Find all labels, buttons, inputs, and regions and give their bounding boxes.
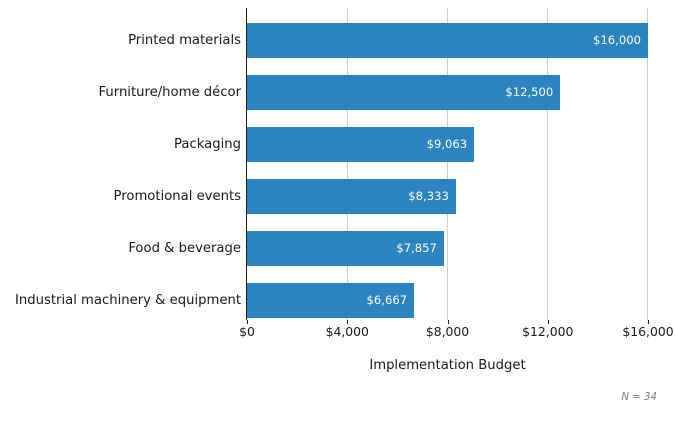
category-label: Industrial machinery & equipment <box>0 283 241 318</box>
bar-chart: Printed materials$16,000Furniture/home d… <box>0 0 675 422</box>
category-label: Furniture/home décor <box>0 75 241 110</box>
bar-value-label: $16,000 <box>593 23 641 58</box>
bar-row: Furniture/home décor$12,500 <box>0 75 675 110</box>
x-tick-label: $12,000 <box>522 324 573 339</box>
sample-size-note: N = 34 <box>621 392 657 403</box>
bar: $8,333 <box>247 179 456 214</box>
category-label: Food & beverage <box>0 231 241 266</box>
category-label: Printed materials <box>0 23 241 58</box>
x-axis-title: Implementation Budget <box>247 358 648 373</box>
bar-row: Promotional events$8,333 <box>0 179 675 214</box>
category-label: Packaging <box>0 127 241 162</box>
bar-value-label: $7,857 <box>396 231 437 266</box>
x-tick-label: $8,000 <box>426 324 469 339</box>
bar: $9,063 <box>247 127 474 162</box>
x-tick-label: $16,000 <box>622 324 673 339</box>
bar: $6,667 <box>247 283 414 318</box>
bar: $7,857 <box>247 231 444 266</box>
bar: $12,500 <box>247 75 560 110</box>
bar-value-label: $9,063 <box>427 127 468 162</box>
bar-value-label: $6,667 <box>367 283 408 318</box>
bar-row: Food & beverage$7,857 <box>0 231 675 266</box>
bar-value-label: $8,333 <box>408 179 449 214</box>
x-tick-label: $4,000 <box>326 324 369 339</box>
bar: $16,000 <box>247 23 648 58</box>
bar-row: Industrial machinery & equipment$6,667 <box>0 283 675 318</box>
bar-row: Printed materials$16,000 <box>0 23 675 58</box>
x-tick-label: $0 <box>239 324 255 339</box>
bar-row: Packaging$9,063 <box>0 127 675 162</box>
bar-value-label: $12,500 <box>505 75 553 110</box>
category-label: Promotional events <box>0 179 241 214</box>
